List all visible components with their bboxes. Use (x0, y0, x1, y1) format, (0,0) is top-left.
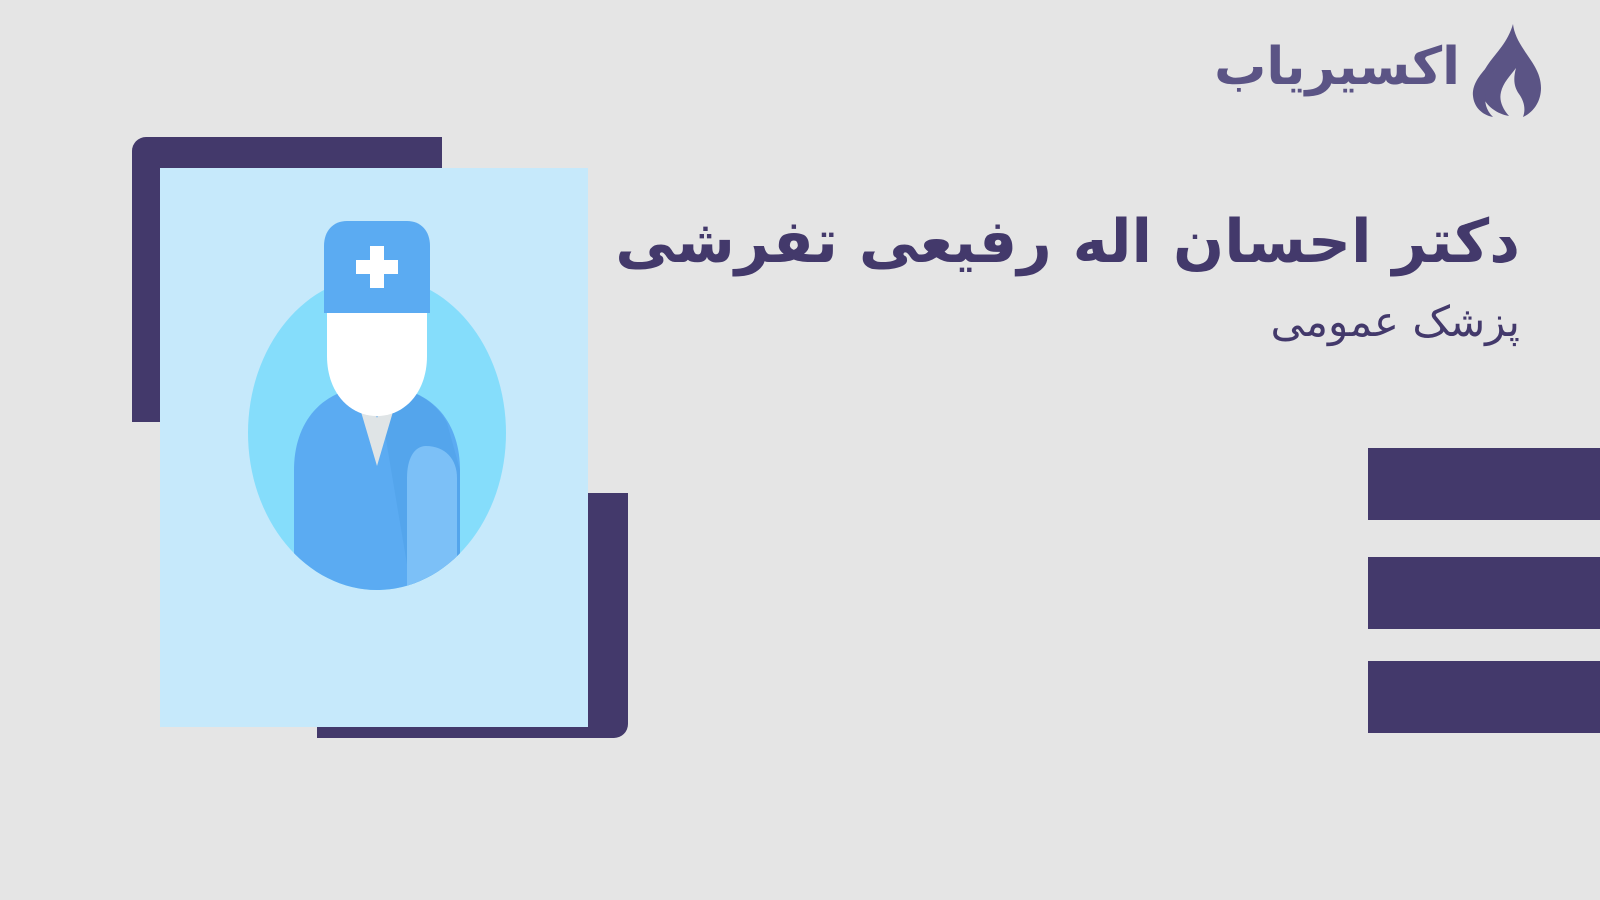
decorative-bar-2 (1368, 557, 1600, 629)
doctor-specialty: پزشک عمومی (540, 295, 1520, 350)
banner-canvas: اکسیریاب (0, 0, 1600, 900)
brand-logo[interactable]: اکسیریاب (1214, 22, 1542, 118)
flame-icon (1468, 22, 1542, 118)
decorative-bar-3 (1368, 661, 1600, 733)
doctor-name: دکتر احسان اله رفیعی تفرشی (540, 206, 1520, 279)
doctor-avatar-icon (248, 218, 506, 603)
decorative-bar-1 (1368, 448, 1600, 520)
brand-name: اکسیریاب (1214, 41, 1460, 99)
doctor-heading-group: دکتر احسان اله رفیعی تفرشی پزشک عمومی (540, 206, 1520, 350)
doctor-photo-card[interactable] (160, 168, 588, 727)
decorative-bar-stack (1368, 448, 1600, 733)
